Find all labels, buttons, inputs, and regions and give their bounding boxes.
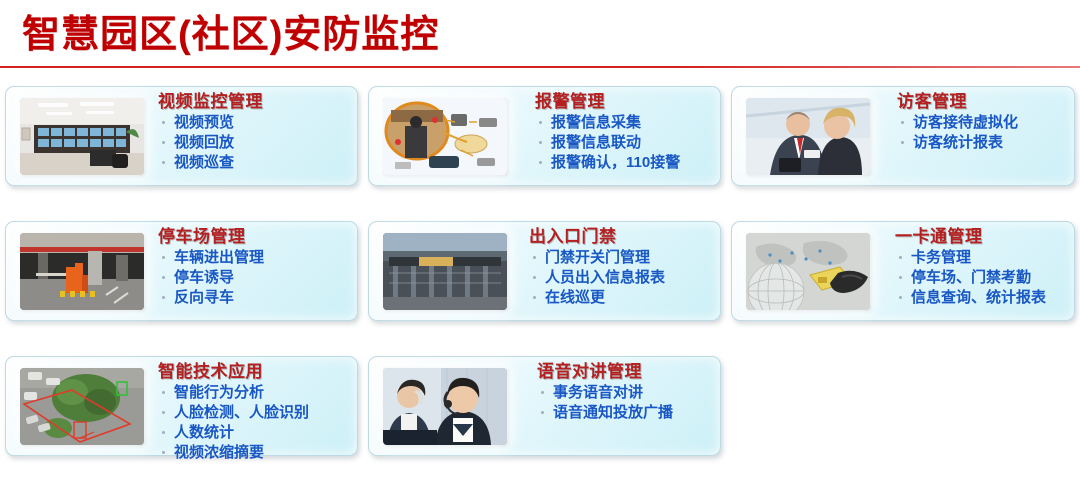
card-parking-management[interactable]: 停车场管理 车辆进出管理 停车诱导 反向寻车	[5, 221, 358, 321]
card-content: 出入口门禁 门禁开关门管理 人员出入信息报表 在线巡更	[529, 227, 714, 308]
bullet-icon	[162, 431, 165, 434]
list-item-label: 门禁开关门管理	[545, 249, 650, 266]
bullet-icon	[539, 121, 542, 124]
card-row-2: 停车场管理 车辆进出管理 停车诱导 反向寻车	[0, 221, 1080, 356]
bullet-icon	[899, 296, 902, 299]
list-item[interactable]: 反向寻车	[158, 288, 351, 308]
bullet-icon	[162, 451, 165, 454]
parking-garage-photo	[20, 233, 144, 310]
card-entrance-access[interactable]: 出入口门禁 门禁开关门管理 人员出入信息报表 在线巡更	[368, 221, 721, 321]
bullet-icon	[899, 276, 902, 279]
card-content: 智能技术应用 智能行为分析 人脸检测、人脸识别 人数统计 视频浓缩摘要	[158, 362, 351, 463]
list-item[interactable]: 车辆进出管理	[158, 248, 351, 268]
list-item[interactable]: 视频回放	[158, 133, 351, 153]
bullet-icon	[539, 141, 542, 144]
bullet-icon	[901, 121, 904, 124]
card-title: 一卡通管理	[895, 227, 1068, 247]
control-room-photo	[20, 98, 144, 175]
card-title: 智能技术应用	[158, 362, 351, 382]
list-item-label: 人数统计	[174, 424, 234, 441]
card-intelligent-technology[interactable]: 智能技术应用 智能行为分析 人脸检测、人脸识别 人数统计 视频浓缩摘要	[5, 356, 358, 456]
list-item-label: 视频预览	[174, 114, 234, 131]
list-item-label: 访客统计报表	[913, 134, 1003, 151]
card-onecard-management[interactable]: 一卡通管理 卡务管理 停车场、门禁考勤 信息查询、统计报表	[731, 221, 1075, 321]
list-item-label: 在线巡更	[545, 289, 605, 306]
list-item[interactable]: 门禁开关门管理	[529, 248, 714, 268]
card-title: 报警管理	[535, 92, 714, 112]
list-item-label: 报警信息联动	[551, 134, 641, 151]
card-feature-list: 事务语音对讲 语音通知投放广播	[537, 383, 714, 423]
bullet-icon	[162, 256, 165, 259]
bullet-icon	[162, 296, 165, 299]
list-item-label: 事务语音对讲	[553, 384, 643, 401]
list-item-label: 人脸检测、人脸识别	[174, 404, 309, 421]
card-feature-list: 卡务管理 停车场、门禁考勤 信息查询、统计报表	[895, 248, 1068, 308]
card-feature-list: 智能行为分析 人脸检测、人脸识别 人数统计 视频浓缩摘要	[158, 383, 351, 463]
list-item-label: 报警信息采集	[551, 114, 641, 131]
list-item[interactable]: 视频预览	[158, 113, 351, 133]
card-visitor-management[interactable]: 访客管理 访客接待虚拟化 访客统计报表	[731, 86, 1075, 186]
bullet-icon	[541, 411, 544, 414]
bullet-icon	[533, 296, 536, 299]
card-title: 出入口门禁	[529, 227, 714, 247]
list-item-label: 人员出入信息报表	[545, 269, 665, 286]
bullet-icon	[539, 161, 542, 164]
list-item[interactable]: 访客接待虚拟化	[897, 113, 1068, 133]
card-feature-list: 报警信息采集 报警信息联动 报警确认，110接警	[535, 113, 714, 173]
list-item[interactable]: 停车诱导	[158, 268, 351, 288]
list-item-label: 报警确认，110接警	[551, 154, 680, 171]
bullet-icon	[162, 411, 165, 414]
page-header: 智慧园区(社区)安防监控	[0, 0, 1080, 70]
bullet-icon	[541, 391, 544, 394]
list-item[interactable]: 事务语音对讲	[537, 383, 714, 403]
list-item-label: 访客接待虚拟化	[913, 114, 1018, 131]
card-content: 一卡通管理 卡务管理 停车场、门禁考勤 信息查询、统计报表	[895, 227, 1068, 308]
page-title: 智慧园区(社区)安防监控	[22, 12, 439, 58]
list-item[interactable]: 人员出入信息报表	[529, 268, 714, 288]
list-item-label: 卡务管理	[911, 249, 971, 266]
list-item-label: 信息查询、统计报表	[911, 289, 1046, 306]
list-item-label: 视频浓缩摘要	[174, 444, 264, 461]
list-item[interactable]: 视频浓缩摘要	[158, 443, 351, 463]
list-item[interactable]: 停车场、门禁考勤	[895, 268, 1068, 288]
aerial-analytics-photo	[20, 368, 144, 445]
title-divider	[0, 66, 1080, 68]
card-title: 语音对讲管理	[537, 362, 714, 382]
list-item-label: 停车场、门禁考勤	[911, 269, 1031, 286]
list-item-label: 车辆进出管理	[174, 249, 264, 266]
list-item[interactable]: 在线巡更	[529, 288, 714, 308]
card-feature-list: 车辆进出管理 停车诱导 反向寻车	[158, 248, 351, 308]
card-content: 视频监控管理 视频预览 视频回放 视频巡查	[158, 92, 351, 173]
bullet-icon	[162, 161, 165, 164]
bullet-icon	[162, 276, 165, 279]
list-item[interactable]: 卡务管理	[895, 248, 1068, 268]
list-item-label: 语音通知投放广播	[553, 404, 673, 421]
card-voice-intercom[interactable]: 语音对讲管理 事务语音对讲 语音通知投放广播	[368, 356, 721, 456]
card-video-surveillance[interactable]: 视频监控管理 视频预览 视频回放 视频巡查	[5, 86, 358, 186]
list-item-label: 视频回放	[174, 134, 234, 151]
alarm-diagram-photo	[383, 98, 507, 175]
card-alarm-management[interactable]: 报警管理 报警信息采集 报警信息联动 报警确认，110接警	[368, 86, 721, 186]
list-item[interactable]: 报警确认，110接警	[535, 153, 714, 173]
card-content: 访客管理 访客接待虚拟化 访客统计报表	[897, 92, 1068, 153]
smartcard-globe-photo	[746, 233, 870, 310]
module-card-grid: 视频监控管理 视频预览 视频回放 视频巡查	[0, 86, 1080, 476]
card-content: 停车场管理 车辆进出管理 停车诱导 反向寻车	[158, 227, 351, 308]
card-feature-list: 访客接待虚拟化 访客统计报表	[897, 113, 1068, 153]
visitor-greeting-photo	[746, 98, 870, 175]
gate-entrance-photo	[383, 233, 507, 310]
bullet-icon	[901, 141, 904, 144]
list-item[interactable]: 智能行为分析	[158, 383, 351, 403]
card-feature-list: 门禁开关门管理 人员出入信息报表 在线巡更	[529, 248, 714, 308]
list-item-label: 智能行为分析	[174, 384, 264, 401]
list-item[interactable]: 人数统计	[158, 423, 351, 443]
list-item[interactable]: 视频巡查	[158, 153, 351, 173]
bullet-icon	[162, 121, 165, 124]
list-item-label: 停车诱导	[174, 269, 234, 286]
card-content: 报警管理 报警信息采集 报警信息联动 报警确认，110接警	[535, 92, 714, 173]
card-row-3: 智能技术应用 智能行为分析 人脸检测、人脸识别 人数统计 视频浓缩摘要	[0, 356, 1080, 476]
list-item[interactable]: 访客统计报表	[897, 133, 1068, 153]
card-title: 访客管理	[897, 92, 1068, 112]
list-item-label: 视频巡查	[174, 154, 234, 171]
bullet-icon	[162, 141, 165, 144]
list-item-label: 反向寻车	[174, 289, 234, 306]
card-title: 视频监控管理	[158, 92, 351, 112]
card-row-1: 视频监控管理 视频预览 视频回放 视频巡查	[0, 86, 1080, 221]
bullet-icon	[162, 391, 165, 394]
list-item[interactable]: 人脸检测、人脸识别	[158, 403, 351, 423]
card-title: 停车场管理	[158, 227, 351, 247]
card-feature-list: 视频预览 视频回放 视频巡查	[158, 113, 351, 173]
list-item[interactable]: 报警信息联动	[535, 133, 714, 153]
list-item[interactable]: 语音通知投放广播	[537, 403, 714, 423]
bullet-icon	[533, 276, 536, 279]
call-center-photo	[383, 368, 507, 445]
list-item[interactable]: 报警信息采集	[535, 113, 714, 133]
card-content: 语音对讲管理 事务语音对讲 语音通知投放广播	[537, 362, 714, 423]
list-item[interactable]: 信息查询、统计报表	[895, 288, 1068, 308]
bullet-icon	[899, 256, 902, 259]
bullet-icon	[533, 256, 536, 259]
